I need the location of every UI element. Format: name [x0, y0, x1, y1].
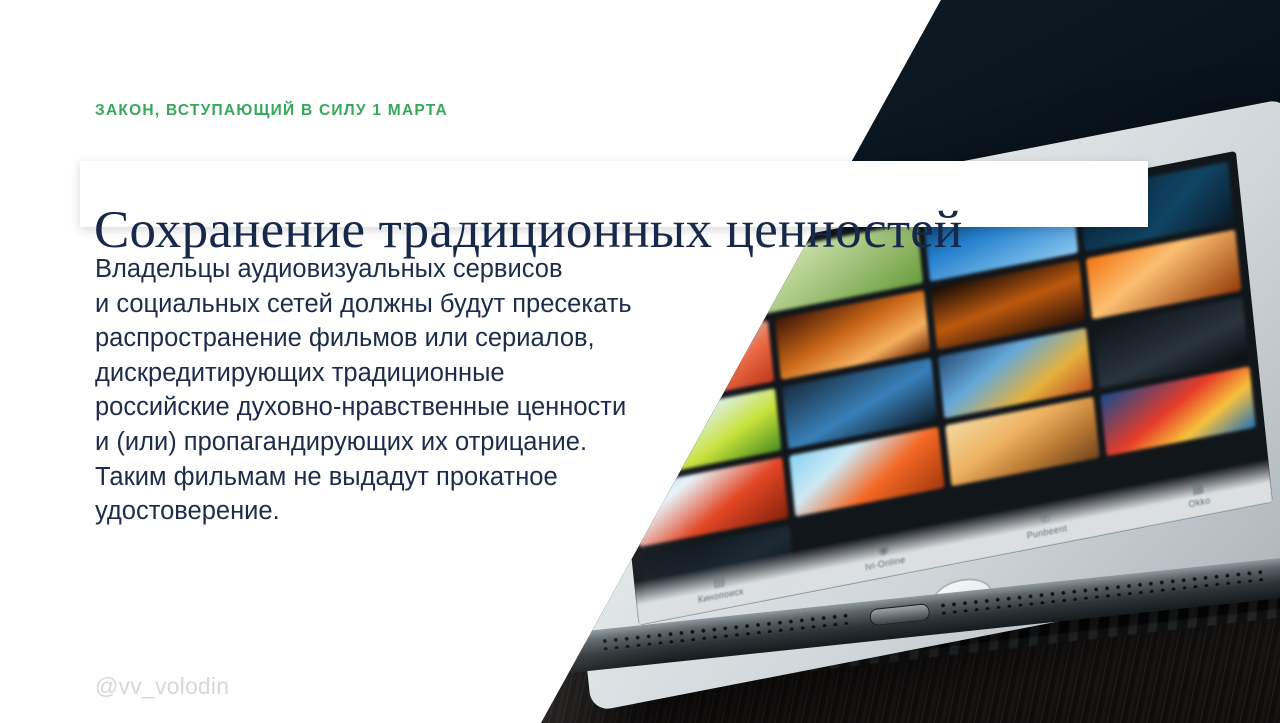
presentation-slide: ▤ Кинопоиск ◉ Ivi·Online ℗ Punbeent ▦: [0, 0, 1280, 723]
body-paragraph: Владельцы аудиовизуальных сервисов и соц…: [95, 252, 735, 529]
eyebrow-label: ЗАКОН, ВСТУПАЮЩИЙ В СИЛУ 1 МАРТА: [95, 102, 448, 120]
author-handle-watermark: @vv_volodin: [95, 673, 229, 700]
